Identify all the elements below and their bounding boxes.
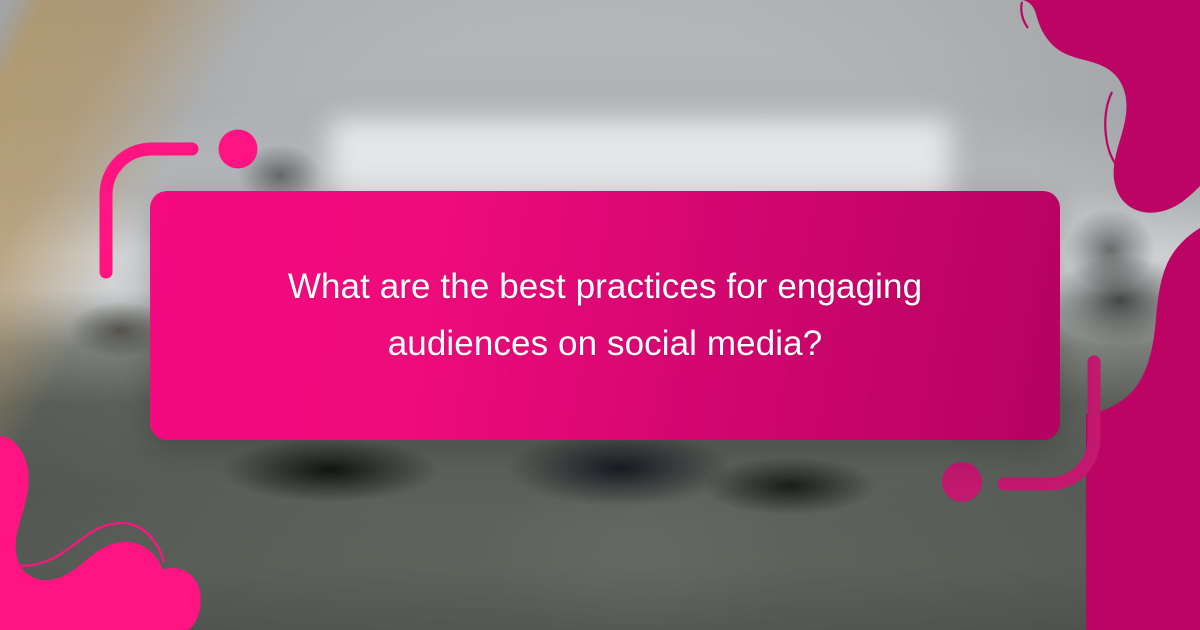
quote-text: What are the best practices for engaging… <box>255 259 955 372</box>
graphic-canvas: What are the best practices for engaging… <box>0 0 1200 630</box>
quote-card: What are the best practices for engaging… <box>150 191 1060 440</box>
